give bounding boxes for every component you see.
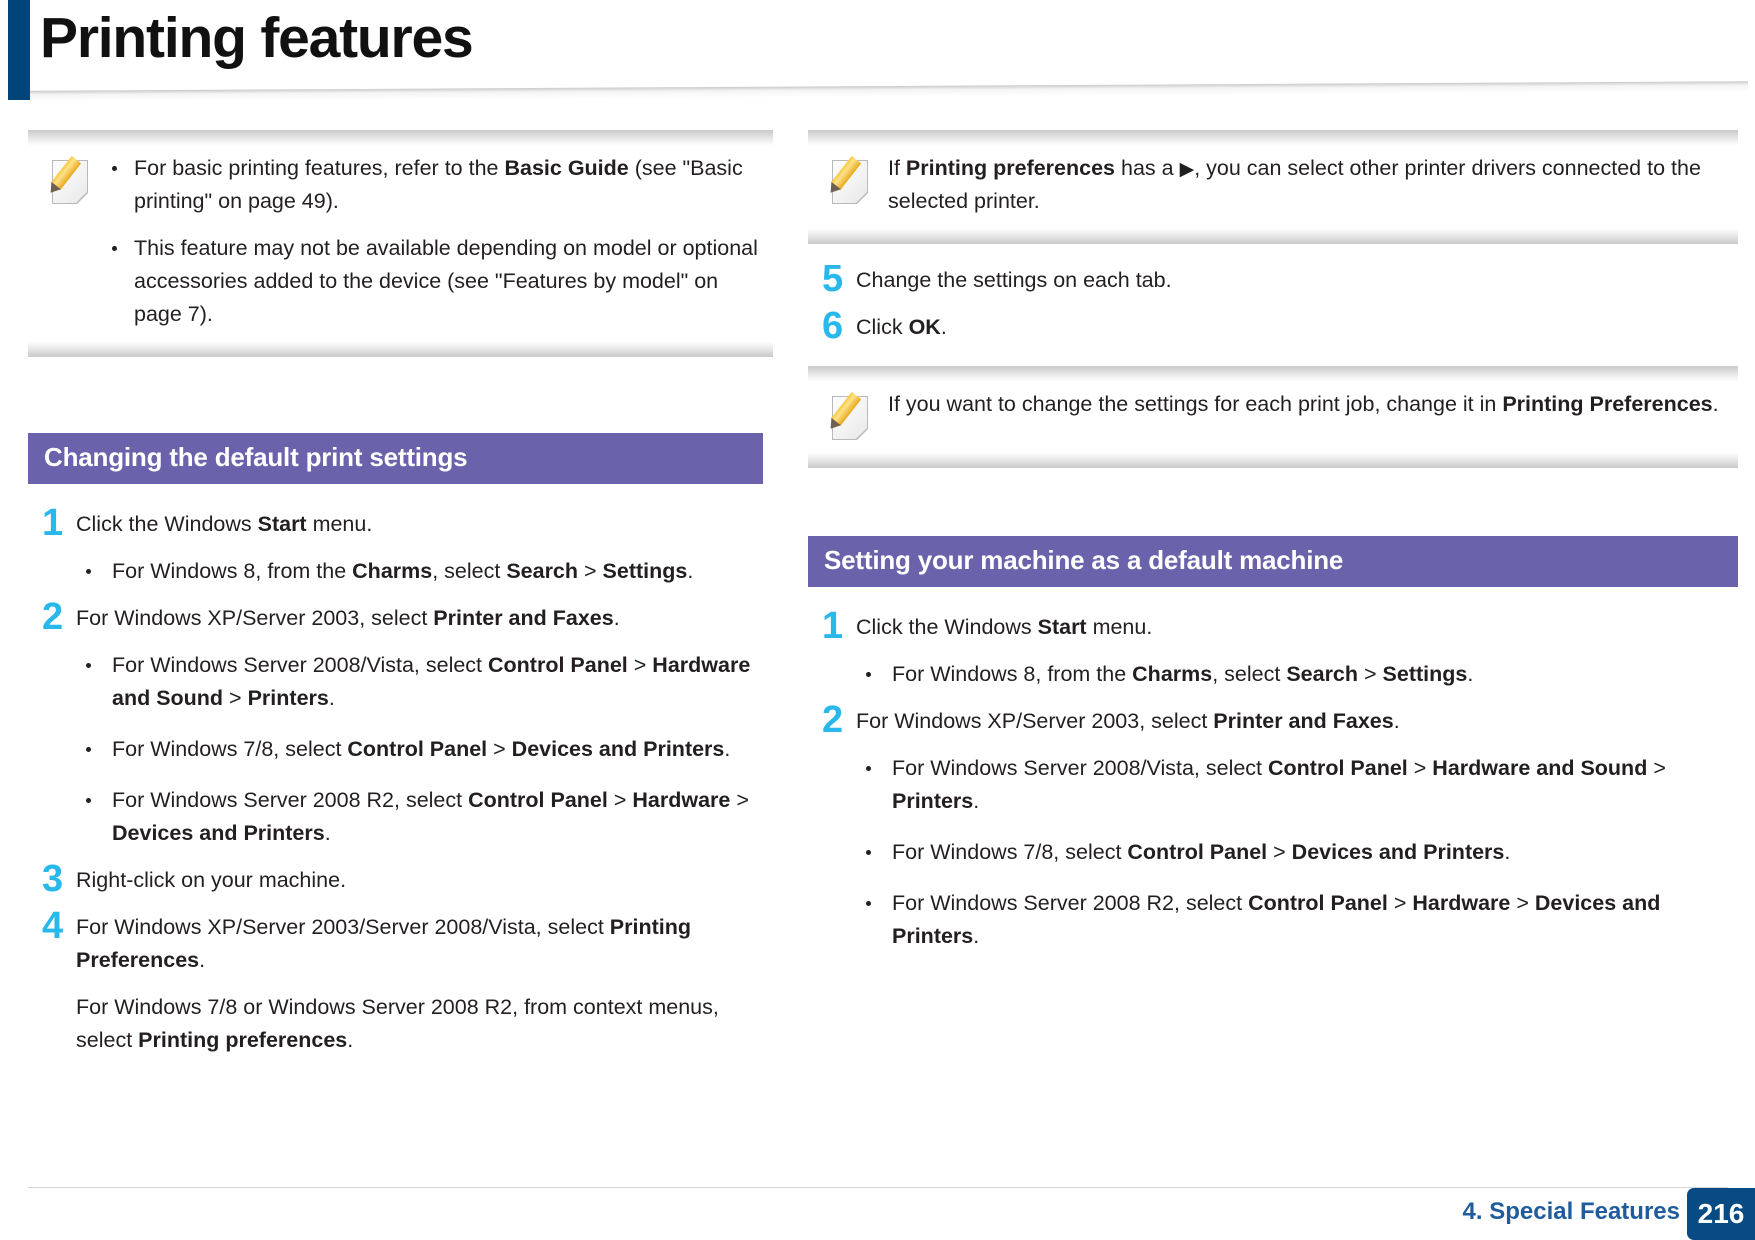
- step-number: 4: [28, 909, 76, 943]
- step-body: Right-click on your machine.: [76, 862, 773, 897]
- note-pencil-icon: [828, 154, 874, 206]
- list-item: For Windows Server 2008 R2, select Contr…: [76, 784, 773, 850]
- list-item: For Windows Server 2008/Vista, select Co…: [76, 649, 773, 715]
- footer-chapter-label: 4. Special Features: [1463, 1198, 1680, 1226]
- step-number: 2: [808, 703, 856, 737]
- step-paragraph: For Windows XP/Server 2003, select Print…: [76, 602, 773, 635]
- step-paragraph: For Windows XP/Server 2003/Server 2008/V…: [76, 911, 773, 977]
- numbered-step: 3Right-click on your machine.: [28, 862, 773, 897]
- numbered-step: 4For Windows XP/Server 2003/Server 2008/…: [28, 909, 773, 1057]
- step-paragraph: Click OK.: [856, 311, 1738, 344]
- step-number: 6: [808, 309, 856, 343]
- step-body: For Windows XP/Server 2003, select Print…: [856, 703, 1738, 953]
- title-divider: [30, 81, 1748, 102]
- list-item: For basic printing features, refer to th…: [108, 152, 765, 218]
- numbered-step: 1Click the Windows Start menu.For Window…: [808, 609, 1738, 691]
- page-header: Printing features: [0, 0, 1755, 104]
- note-top-edge: [808, 366, 1738, 382]
- step-paragraph: Click the Windows Start menu.: [856, 611, 1738, 644]
- footer-divider: [28, 1187, 1728, 1188]
- step-body: Click OK.: [856, 309, 1738, 344]
- note-bottom-edge: [808, 452, 1738, 468]
- step-paragraph: Change the settings on each tab.: [856, 264, 1738, 297]
- note-bottom-edge: [808, 228, 1738, 244]
- step-paragraph: Click the Windows Start menu.: [76, 508, 773, 541]
- step-bullet-list: For Windows Server 2008/Vista, select Co…: [76, 649, 773, 850]
- step-paragraph: Right-click on your machine.: [76, 864, 773, 897]
- note-paragraph: If you want to change the settings for e…: [888, 388, 1730, 421]
- page-footer: 4. Special Features 216: [0, 1176, 1755, 1240]
- list-item: For Windows 8, from the Charms, select S…: [76, 555, 773, 588]
- left-column: For basic printing features, refer to th…: [28, 130, 773, 1069]
- note-paragraph: If Printing preferences has a ▶, you can…: [888, 152, 1730, 218]
- note-bullet-list: For basic printing features, refer to th…: [108, 152, 765, 331]
- numbered-step: 1Click the Windows Start menu.For Window…: [28, 506, 773, 588]
- step-bullet-list: For Windows 8, from the Charms, select S…: [76, 555, 773, 588]
- numbered-step: 2For Windows XP/Server 2003, select Prin…: [28, 600, 773, 850]
- step-number: 5: [808, 262, 856, 296]
- note-pencil-icon: [828, 390, 874, 442]
- step-number: 3: [28, 862, 76, 896]
- page-number-badge: 216: [1687, 1188, 1755, 1240]
- step-body: For Windows XP/Server 2003, select Print…: [76, 600, 773, 850]
- list-item: For Windows 8, from the Charms, select S…: [856, 658, 1738, 691]
- note-box-each-print-job: If you want to change the settings for e…: [808, 366, 1738, 468]
- note-pencil-icon: [48, 154, 94, 206]
- section-header-setting-default-machine: Setting your machine as a default machin…: [808, 536, 1738, 587]
- step-body: Click the Windows Start menu.For Windows…: [856, 609, 1738, 691]
- list-item: For Windows 7/8, select Control Panel > …: [76, 733, 773, 766]
- title-accent-bar: [8, 0, 30, 100]
- list-item: For Windows Server 2008 R2, select Contr…: [856, 887, 1738, 953]
- numbered-step: 6Click OK.: [808, 309, 1738, 344]
- right-column: If Printing preferences has a ▶, you can…: [808, 130, 1738, 965]
- left-steps-list: 1Click the Windows Start menu.For Window…: [28, 506, 773, 1057]
- right-steps-top-list: 5Change the settings on each tab.6Click …: [808, 262, 1738, 344]
- step-number: 1: [28, 506, 76, 540]
- step-number: 2: [28, 600, 76, 634]
- step-paragraph: For Windows 7/8 or Windows Server 2008 R…: [76, 991, 773, 1057]
- numbered-step: 5Change the settings on each tab.: [808, 262, 1738, 297]
- section-header-changing-default-print-settings: Changing the default print settings: [28, 433, 763, 484]
- step-paragraph: For Windows XP/Server 2003, select Print…: [856, 705, 1738, 738]
- list-item: For Windows 7/8, select Control Panel > …: [856, 836, 1738, 869]
- step-bullet-list: For Windows 8, from the Charms, select S…: [856, 658, 1738, 691]
- step-body: Click the Windows Start menu.For Windows…: [76, 506, 773, 588]
- note-top-edge: [808, 130, 1738, 146]
- numbered-step: 2For Windows XP/Server 2003, select Prin…: [808, 703, 1738, 953]
- step-number: 1: [808, 609, 856, 643]
- note-bottom-edge: [28, 341, 773, 357]
- step-bullet-list: For Windows Server 2008/Vista, select Co…: [856, 752, 1738, 953]
- page-title: Printing features: [40, 2, 473, 74]
- note-box-basic-printing: For basic printing features, refer to th…: [28, 130, 773, 357]
- list-item: This feature may not be available depend…: [108, 232, 765, 331]
- step-body: For Windows XP/Server 2003/Server 2008/V…: [76, 909, 773, 1057]
- note-box-printing-preferences-arrow: If Printing preferences has a ▶, you can…: [808, 130, 1738, 244]
- right-steps-bottom-list: 1Click the Windows Start menu.For Window…: [808, 609, 1738, 953]
- step-body: Change the settings on each tab.: [856, 262, 1738, 297]
- list-item: For Windows Server 2008/Vista, select Co…: [856, 752, 1738, 818]
- note-top-edge: [28, 130, 773, 146]
